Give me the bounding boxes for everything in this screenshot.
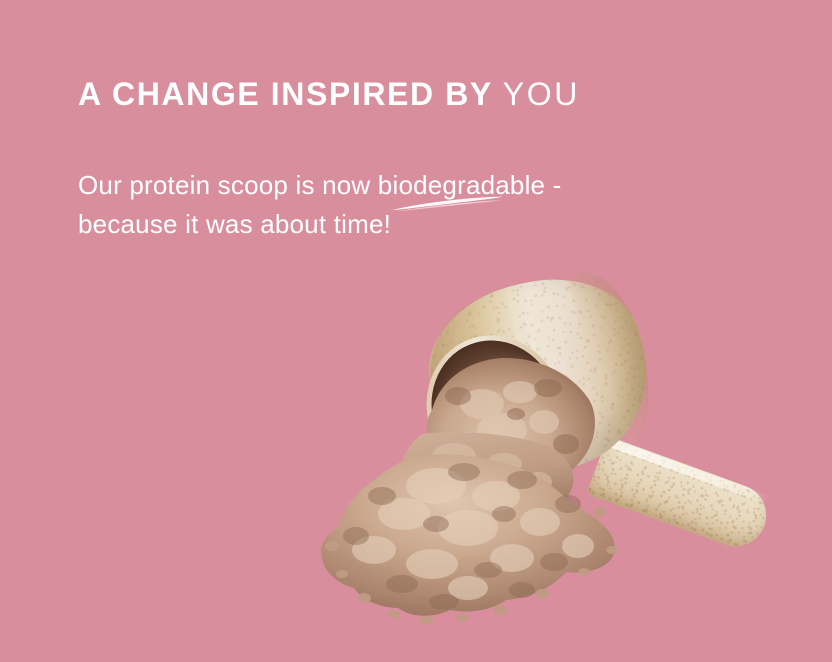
- headline-light: YOU: [503, 76, 580, 112]
- powder-pile-shape: [316, 452, 636, 632]
- promo-banner: A CHANGE INSPIRED BY YOU Our protein sco…: [0, 0, 832, 662]
- headline-strong: A CHANGE INSPIRED BY: [78, 76, 492, 112]
- powder-pile: [316, 452, 636, 632]
- subheadline-block: Our protein scoop is now biodegradable -…: [78, 166, 598, 244]
- subheadline-line-1: Our protein scoop is now biodegradable -: [78, 166, 598, 205]
- text-block: A CHANGE INSPIRED BY YOU Our protein sco…: [78, 74, 718, 244]
- page-title: A CHANGE INSPIRED BY YOU: [78, 74, 718, 114]
- subheadline-line-2: because it was about time!: [78, 205, 598, 244]
